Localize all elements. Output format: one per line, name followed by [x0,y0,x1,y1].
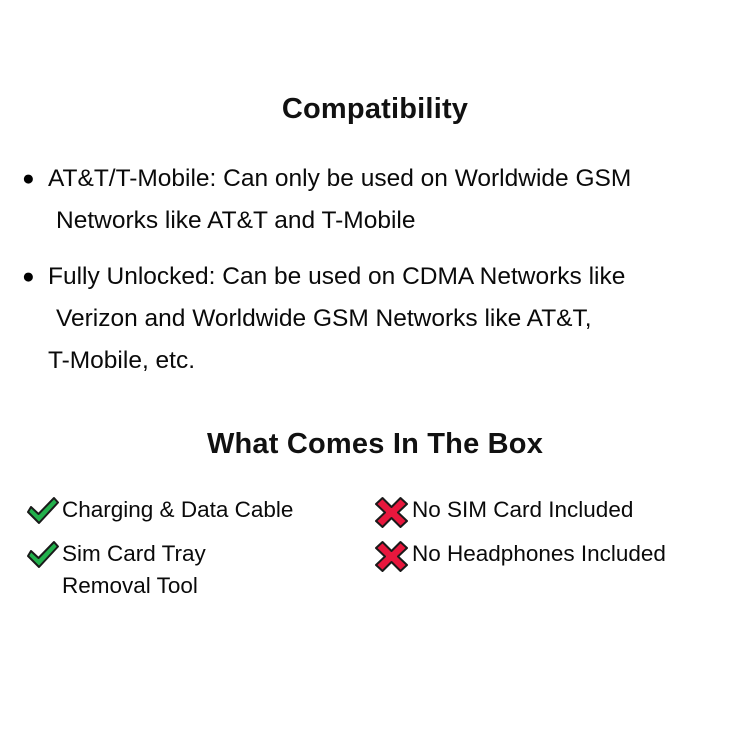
list-item-text: Sim Card Tray Removal Tool [62,538,364,602]
list-item: No SIM Card Included [374,494,734,529]
product-info-page: Compatibility ● AT&T/T-Mobile: Can only … [0,0,750,750]
list-item-line: Charging & Data Cable [62,494,364,526]
compatibility-list: ● AT&T/T-Mobile: Can only be used on Wor… [22,158,734,396]
list-item-line: No SIM Card Included [412,494,734,526]
list-item: ● Fully Unlocked: Can be used on CDMA Ne… [22,256,734,382]
list-item-text: No Headphones Included [412,538,734,570]
box-contents-heading: What Comes In The Box [0,428,750,461]
list-item-line: Verizon and Worldwide GSM Networks like … [48,298,734,340]
list-item: ● AT&T/T-Mobile: Can only be used on Wor… [22,158,734,242]
list-item: No Headphones Included [374,538,734,573]
bullet-dot-icon: ● [22,158,48,200]
list-item-text: Charging & Data Cable [62,494,364,526]
list-item-line: Networks like AT&T and T-Mobile [48,200,734,242]
box-contents-grid: Charging & Data Cable Sim Card Tray Remo… [0,494,750,614]
bullet-dot-icon: ● [22,256,48,298]
list-item-line: AT&T/T-Mobile: Can only be used on World… [48,158,734,200]
list-item-text: No SIM Card Included [412,494,734,526]
list-item-text: Fully Unlocked: Can be used on CDMA Netw… [48,256,734,382]
included-items-column: Charging & Data Cable Sim Card Tray Remo… [24,494,364,611]
list-item-line: No Headphones Included [412,538,734,570]
list-item: Charging & Data Cable [24,494,364,529]
list-item-line: Fully Unlocked: Can be used on CDMA Netw… [48,256,734,298]
green-check-icon [24,539,62,573]
excluded-items-column: No SIM Card Included No Headphones Inclu… [374,494,734,582]
red-cross-icon [374,539,412,573]
list-item-line: T-Mobile, etc. [48,340,734,382]
red-cross-icon [374,495,412,529]
compatibility-heading: Compatibility [0,93,750,126]
list-item-line: Sim Card Tray [62,538,364,570]
list-item-text: AT&T/T-Mobile: Can only be used on World… [48,158,734,242]
list-item: Sim Card Tray Removal Tool [24,538,364,602]
green-check-icon [24,495,62,529]
list-item-line: Removal Tool [62,570,364,602]
